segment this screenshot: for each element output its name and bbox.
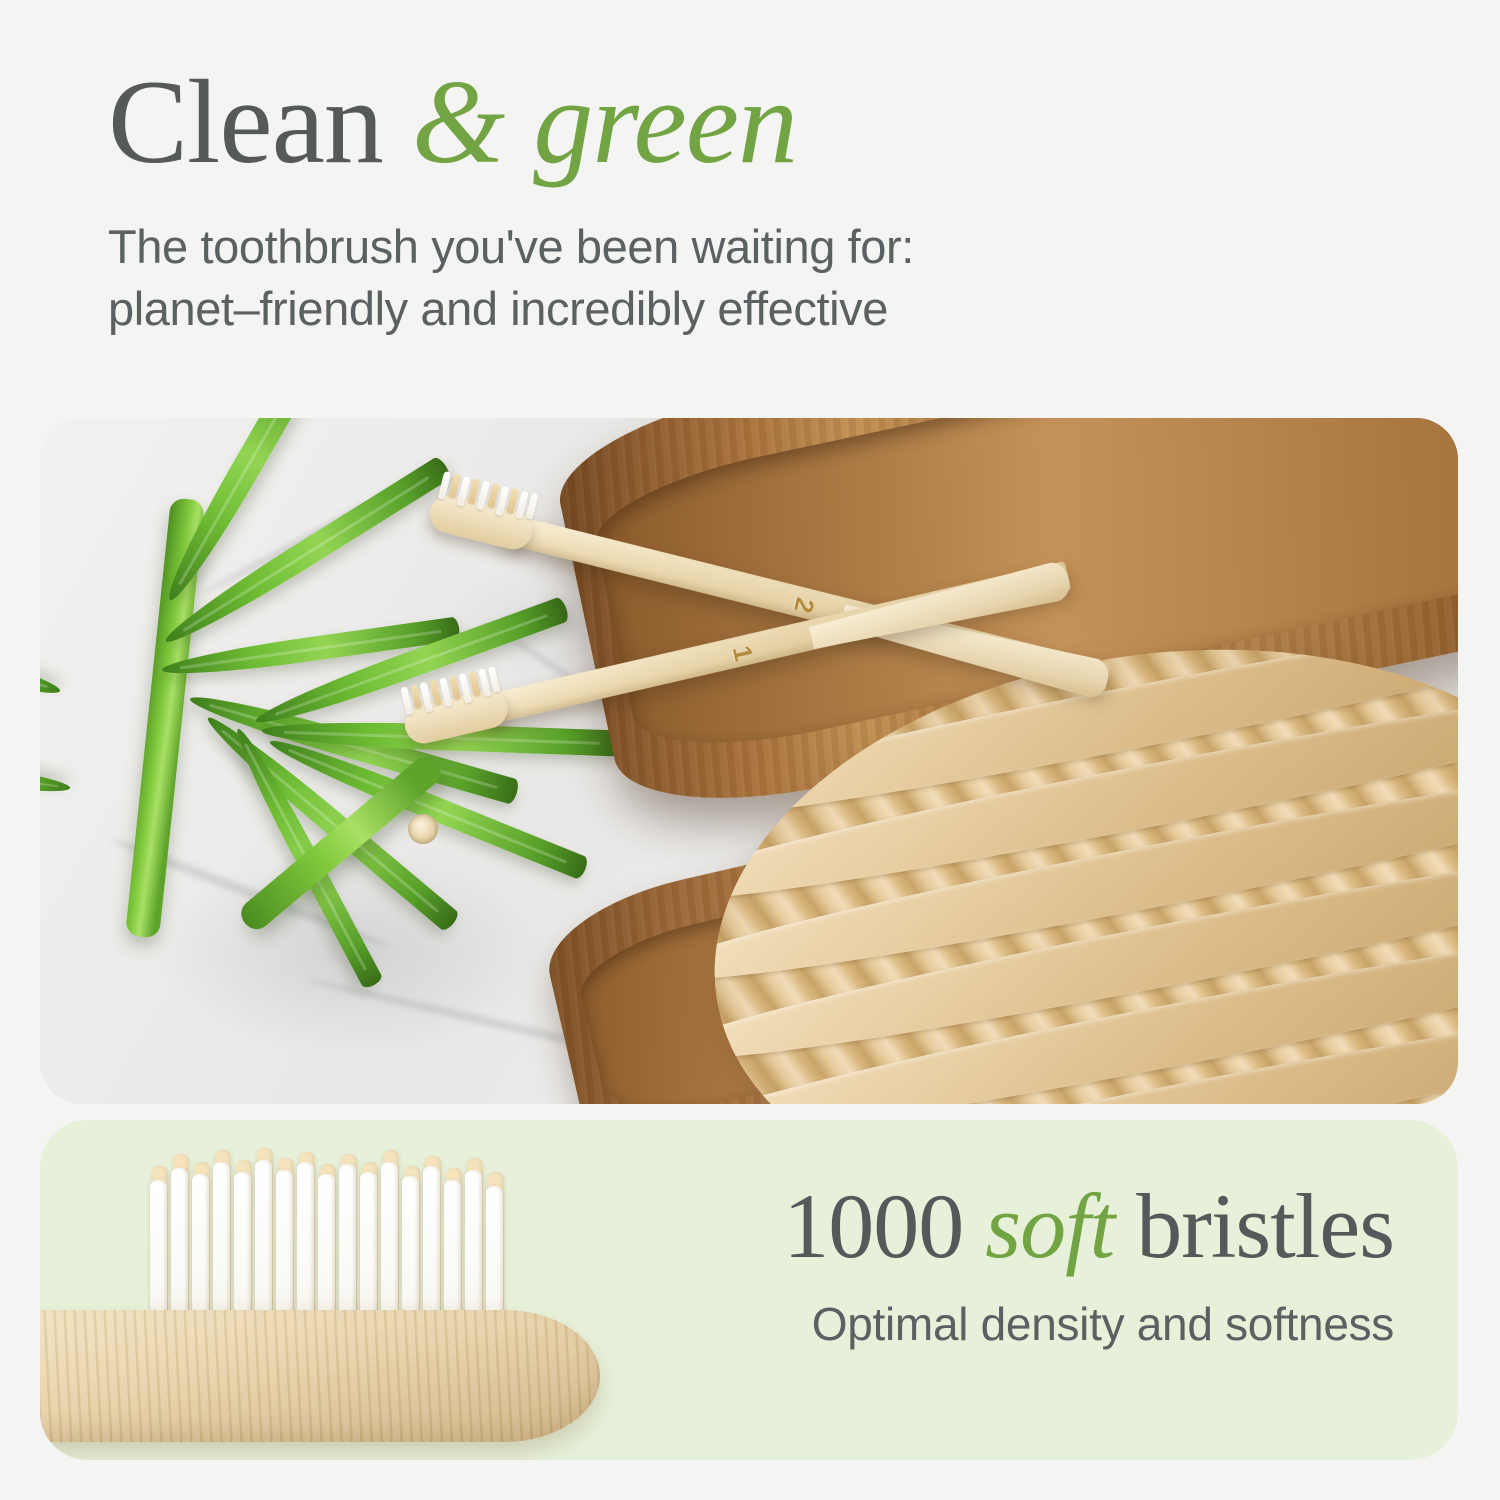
feature-subtitle: Optimal density and softness <box>514 1297 1394 1351</box>
feature-title-rest: bristles <box>1114 1175 1394 1277</box>
feature-text-block: 1000 soft bristles Optimal density and s… <box>514 1178 1394 1351</box>
subtitle-line-1: The toothbrush you've been waiting for: <box>108 216 1408 278</box>
feature-title-number: 1000 <box>783 1175 985 1277</box>
feature-panel: 1000 soft bristles Optimal density and s… <box>40 1120 1458 1460</box>
bamboo-cane-end <box>408 814 438 844</box>
page-title: Clean & green <box>108 62 1408 182</box>
headline-accent-text: & green <box>412 55 797 188</box>
header-block: Clean & green The toothbrush you've been… <box>108 62 1408 340</box>
product-photo-panel: 2 1 VIVA 10 PACK 10P <box>40 418 1458 1104</box>
page-subtitle: The toothbrush you've been waiting for: … <box>108 216 1408 340</box>
subtitle-line-2: planet–friendly and incredibly effective <box>108 278 1408 340</box>
headline-text: Clean <box>108 55 412 188</box>
feature-title: 1000 soft bristles <box>514 1178 1394 1275</box>
feature-title-accent: soft <box>985 1175 1114 1277</box>
